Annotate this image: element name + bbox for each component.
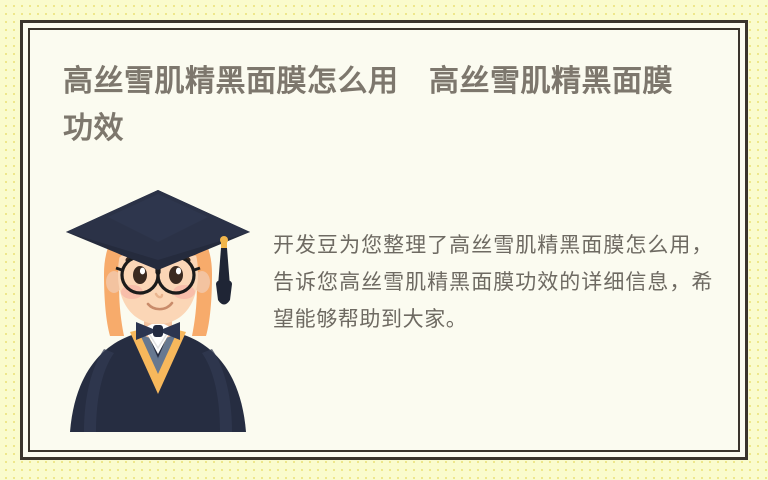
eye-left	[133, 266, 147, 284]
tassel-fringe	[216, 280, 232, 305]
article-content: 开发豆为您整理了高丝雪肌精黑面膜怎么用，告诉您高丝雪肌精黑面膜功效的详细信息，希…	[30, 182, 738, 432]
article-card: 高丝雪肌精黑面膜怎么用 高丝雪肌精黑面膜功效	[20, 20, 748, 460]
article-card-inner: 高丝雪肌精黑面膜怎么用 高丝雪肌精黑面膜功效	[28, 28, 740, 452]
article-summary: 开发豆为您整理了高丝雪肌精黑面膜怎么用，告诉您高丝雪肌精黑面膜功效的详细信息，希…	[273, 227, 713, 338]
graduate-avatar-illustration	[58, 182, 258, 432]
page-title: 高丝雪肌精黑面膜怎么用 高丝雪肌精黑面膜功效	[63, 58, 703, 152]
glasses-bridge	[157, 270, 159, 272]
eye-left-glint	[140, 268, 145, 275]
graduate-avatar-svg	[58, 182, 258, 432]
tassel	[216, 236, 232, 305]
eye-right	[169, 266, 183, 284]
eye-right-glint	[176, 268, 181, 275]
